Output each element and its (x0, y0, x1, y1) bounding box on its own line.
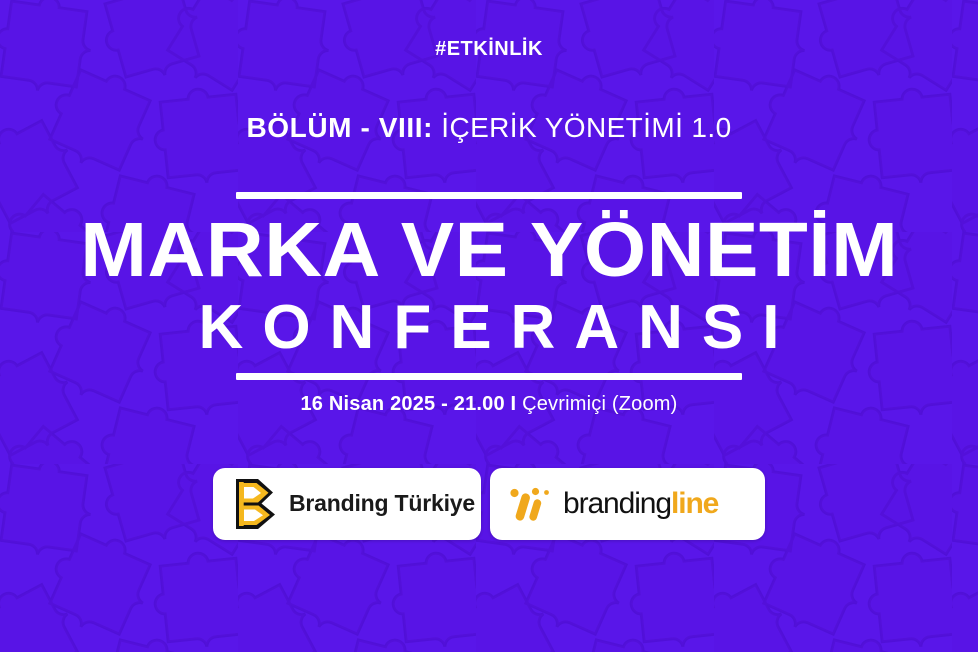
logo-text-brandingline-part1: branding (563, 487, 671, 520)
logo-text-branding-turkiye: Branding Türkiye (289, 490, 475, 517)
episode-line: BÖLÜM - VIII: İÇERİK YÖNETİMİ 1.0 (246, 113, 731, 144)
page-title-line-1: MARKA VE YÖNETİM (80, 213, 898, 288)
logo-card-branding-turkiye[interactable]: Branding Türkiye (213, 468, 481, 540)
branding-turkiye-b-mark-icon (227, 476, 279, 532)
page-title-line-2: KONFERANSI (180, 295, 799, 360)
brandingline-slashes-mark-icon (508, 483, 552, 525)
logo-card-brandingline[interactable]: brandingline (490, 468, 765, 540)
sponsor-logo-row: Branding Türkiye brandinglin (213, 468, 765, 540)
divider-top (236, 192, 742, 199)
event-location: Çevrimiçi (Zoom) (516, 393, 677, 415)
episode-topic: İÇERİK YÖNETİMİ 1.0 (433, 112, 731, 143)
poster-content: #ETKİNLİK BÖLÜM - VIII: İÇERİK YÖNETİMİ … (0, 0, 978, 652)
hashtag-label: #ETKİNLİK (435, 39, 543, 59)
logo-text-brandingline-part2: line (671, 487, 718, 520)
episode-number: BÖLÜM - VIII: (246, 112, 433, 143)
title-block: MARKA VE YÖNETİM KONFERANSI (96, 213, 883, 361)
event-date-time: 16 Nisan 2025 - 21.00 I (300, 393, 516, 415)
event-poster: #ETKİNLİK BÖLÜM - VIII: İÇERİK YÖNETİMİ … (0, 0, 978, 652)
event-datetime-line: 16 Nisan 2025 - 21.00 I Çevrimiçi (Zoom) (300, 393, 677, 415)
logo-text-brandingline: brandingline (563, 487, 718, 521)
divider-bottom (236, 373, 742, 380)
